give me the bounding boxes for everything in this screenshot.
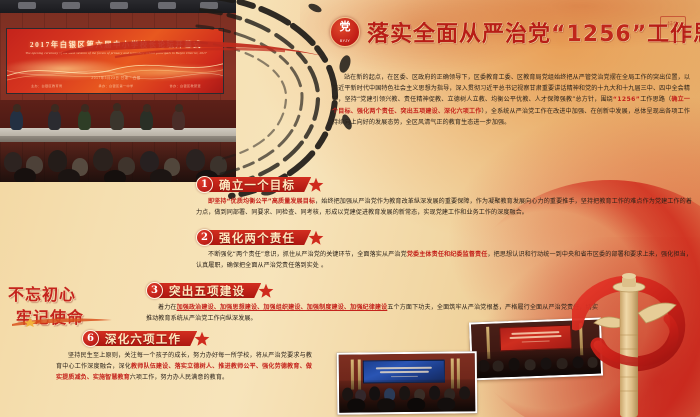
byjy-logo-icon: 党 BYJY	[330, 17, 360, 47]
section-1-title: 确立一个目标	[219, 177, 295, 193]
organizer-undertaker: 承办：白银区第一中学	[99, 83, 134, 88]
ceiling-strip	[0, 0, 236, 13]
section-1-body-highlight: “优质均衡公平”高质量发展目标	[227, 198, 316, 205]
organizer-host: 主办：白银区教育局	[31, 83, 62, 88]
section-2-title-plate: 强化两个责任	[205, 230, 311, 245]
huabiao-column-icon	[572, 257, 692, 417]
photo1-audience	[339, 379, 475, 413]
section-3-body-pre: 着力在	[158, 304, 177, 311]
section-2-body-pre: 不断强化“两个责任”意识，抓住从严治党的关键环节，全面落实从严治党	[208, 251, 407, 258]
section-6-number: 6	[82, 330, 99, 347]
section-6: 6 深化六项工作 坚持民生至上原则，关注每一个孩子的成长，努力办好每一所学校，将…	[82, 330, 337, 384]
section-2-title: 强化两个责任	[219, 230, 295, 246]
screen-subtitle: The opening ceremony of the sixth sessio…	[13, 51, 219, 55]
intro-paragraph: 站在新的起点，在区委、区政府的正确领导下，区委教育工委、区教育局党组始终把从严管…	[332, 72, 690, 128]
section-3-body-highlight: 加强政治建设、加强思想建设、加强组织建设、加强制度建设、加强纪律建设	[177, 304, 388, 311]
poster-canvas: 2017年白银区第六届中小学校长论坛开幕式 The opening ceremo…	[0, 0, 700, 417]
section-1-title-plate: 确立一个目标	[205, 177, 311, 192]
organizer-coorganizer: 协办：白银区教研室	[170, 83, 201, 88]
section-3-number: 3	[146, 282, 163, 299]
logo-glyph: 党	[331, 22, 359, 33]
section-1-body-pre: 即坚持	[208, 198, 227, 205]
section-6-body: 坚持民生至上原则，关注每一个孩子的成长，努力办好每一所学校，将从严治党要求与教育…	[56, 350, 312, 384]
section-1-header: 1 确立一个目标	[196, 176, 692, 193]
red-star-icon	[258, 283, 274, 299]
section-2-number: 2	[196, 229, 213, 246]
section-3-header: 3 突出五项建设	[146, 282, 598, 299]
title-code: “1256”	[551, 22, 647, 47]
poster-banner-title: 党 BYJY 落实全面从严治党“1256”工作思路	[330, 12, 690, 52]
intro-policy-quote: “党建引领兴教、责任精神促教、立德树人立教、均衡公平优教、人才保障强教”	[357, 96, 575, 103]
section-6-title-plate: 深化六项工作	[91, 331, 197, 346]
decorative-seal: 特色	[660, 16, 686, 42]
conference-photo-bottom-1	[337, 351, 478, 414]
section-3: 3 突出五项建设 着力在加强政治建设、加强思想建设、加强组织建设、加强制度建设、…	[146, 282, 598, 324]
section-2-body-highlight: 党委主体责任和纪委监督责任	[407, 251, 488, 258]
red-star-icon	[308, 230, 324, 246]
section-1-body: 即坚持“优质均衡公平”高质量发展目标，始终把加强从严治党作为教育改革纵深发展的重…	[196, 196, 692, 218]
section-6-header: 6 深化六项工作	[82, 330, 337, 347]
screen-main-title: 2017年白银区第六届中小学校长论坛开幕式	[13, 40, 219, 50]
section-6-title: 深化六项工作	[105, 331, 181, 347]
red-star-icon	[308, 177, 324, 193]
screen-organizer-line: 主办：白银区教育局 承办：白银区第一中学 协办：白银区教研室	[13, 83, 219, 88]
section-3-title-plate: 突出五项建设	[155, 283, 261, 298]
section-6-body-post: 六项工作，努力办人民满意的教育。	[130, 374, 228, 381]
intro-code-1256: “1256”	[613, 96, 640, 103]
section-2-header: 2 强化两个责任	[196, 229, 692, 246]
slogan-line-1: 不忘初心	[8, 281, 116, 305]
title-prefix: 落实全面从严治党	[367, 22, 551, 47]
section-3-title: 突出五项建设	[169, 283, 245, 299]
conference-photo-main: 2017年白银区第六届中小学校长论坛开幕式 The opening ceremo…	[0, 0, 236, 182]
page-title: 落实全面从严治党“1256”工作思路	[367, 16, 700, 48]
logo-abbrev: BYJY	[331, 39, 359, 43]
section-1: 1 确立一个目标 即坚持“优质均衡公平”高质量发展目标，始终把加强从严治党作为教…	[196, 176, 692, 218]
screen-date-line: 2017年3月23日 甘肃 · 白银	[13, 75, 219, 80]
intro-part-2: 总方针，围绕	[575, 96, 613, 103]
red-star-icon	[194, 331, 210, 347]
section-1-number: 1	[196, 176, 213, 193]
slogan-swoosh-decoration	[10, 317, 114, 327]
intro-part-3: 工作思路（	[640, 96, 671, 103]
slogan-block: 不忘初心 牢记使命	[8, 281, 116, 327]
photo2-screen	[499, 324, 572, 350]
led-stage-screen: 2017年白银区第六届中小学校长论坛开幕式 The opening ceremo…	[6, 28, 224, 94]
